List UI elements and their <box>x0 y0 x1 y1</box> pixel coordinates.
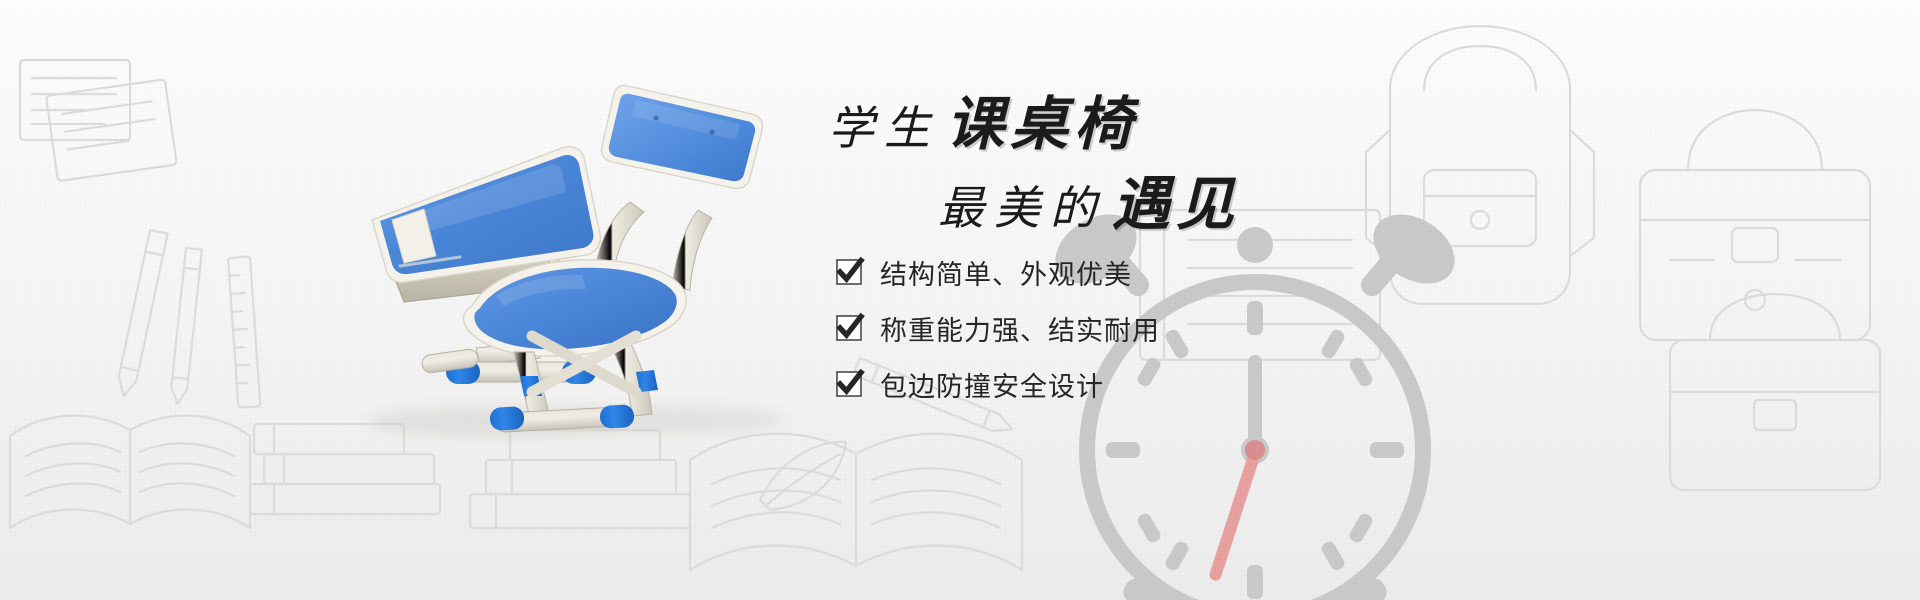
headline-line-2-light: 最美的 <box>938 183 1106 234</box>
headline-line-2: 最美的遇见 <box>818 176 1578 234</box>
promo-banner: 学生课桌椅 最美的遇见 结构简单、外观优美 称重能力强、结实耐用 <box>0 0 1920 600</box>
list-item-label: 结构简单、外观优美 <box>880 253 1132 292</box>
list-item: 称重能力强、结实耐用 <box>836 306 1476 350</box>
check-icon <box>836 315 862 341</box>
list-item: 包边防撞安全设计 <box>836 362 1476 406</box>
open-book-icon <box>10 416 250 528</box>
backpack-icon <box>1670 294 1880 490</box>
headline-line-1-bold: 课桌椅 <box>946 92 1138 157</box>
headline-line-2-bold: 遇见 <box>1112 172 1240 237</box>
pencil-icon <box>170 248 202 405</box>
pencil-icon <box>115 230 168 398</box>
list-item-label: 包边防撞安全设计 <box>880 365 1104 404</box>
list-item: 结构简单、外观优美 <box>836 250 1476 294</box>
product-image-student-desk-and-chair <box>300 70 860 470</box>
ruler-icon <box>228 256 260 407</box>
headline-line-1-light: 学生 <box>828 103 940 154</box>
backpack-icon <box>1640 110 1870 340</box>
list-item-label: 称重能力强、结实耐用 <box>880 309 1160 348</box>
feature-list: 结构简单、外观优美 称重能力强、结实耐用 包边防撞安全设计 <box>836 250 1476 418</box>
headline-line-1: 学生课桌椅 <box>818 96 1578 154</box>
check-icon <box>836 259 862 285</box>
notebook-icon <box>20 60 130 140</box>
check-icon <box>836 371 862 397</box>
